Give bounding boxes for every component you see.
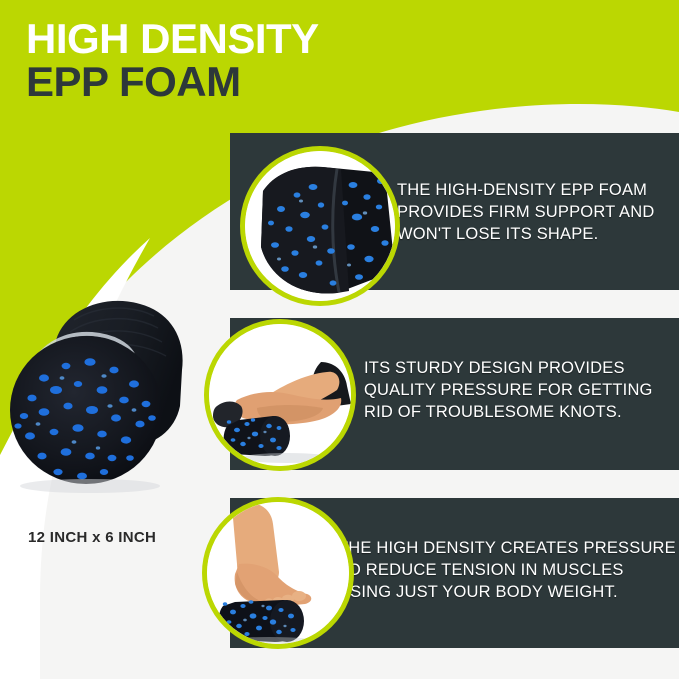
title-line-primary: HIGH DENSITY — [26, 18, 319, 59]
feature-3-text: THE HIGH DENSITY CREATES PRESSURE TO RED… — [338, 538, 676, 603]
feature-2-line-3: RID OF TROUBLESOME KNOTS. — [364, 402, 653, 424]
page-title: HIGH DENSITY EPP FOAM — [26, 18, 319, 102]
legs-on-foam-roller-image — [209, 324, 351, 466]
feature-2-text: ITS STURDY DESIGN PROVIDES QUALITY PRESS… — [364, 358, 653, 423]
feature-2-line-1: ITS STURDY DESIGN PROVIDES — [364, 358, 653, 380]
foam-roller-hero-image — [4, 286, 200, 494]
foot-on-foam-roller-image — [207, 502, 349, 644]
feature-1-line-2: PROVIDES FIRM SUPPORT AND — [397, 202, 654, 224]
feature-3-line-3: USING JUST YOUR BODY WEIGHT. — [338, 582, 676, 604]
feature-1-text: THE HIGH-DENSITY EPP FOAM PROVIDES FIRM … — [397, 180, 654, 245]
product-size-label: 12 INCH x 6 INCH — [28, 529, 156, 546]
feature-2-badge — [204, 319, 356, 471]
feature-1-badge — [240, 146, 400, 306]
feature-3-line-1: THE HIGH DENSITY CREATES PRESSURE — [338, 538, 676, 560]
title-line-secondary: EPP FOAM — [26, 61, 319, 102]
foam-texture-closeup-image — [245, 151, 395, 301]
feature-3-line-2: TO REDUCE TENSION IN MUSCLES — [338, 560, 676, 582]
feature-3-badge — [202, 497, 354, 649]
product-infographic: HIGH DENSITY EPP FOAM THE HIGH-DENSITY E… — [0, 0, 679, 679]
feature-1-line-3: WON'T LOSE ITS SHAPE. — [397, 224, 654, 246]
feature-2-line-2: QUALITY PRESSURE FOR GETTING — [364, 380, 653, 402]
feature-1-line-1: THE HIGH-DENSITY EPP FOAM — [397, 180, 654, 202]
